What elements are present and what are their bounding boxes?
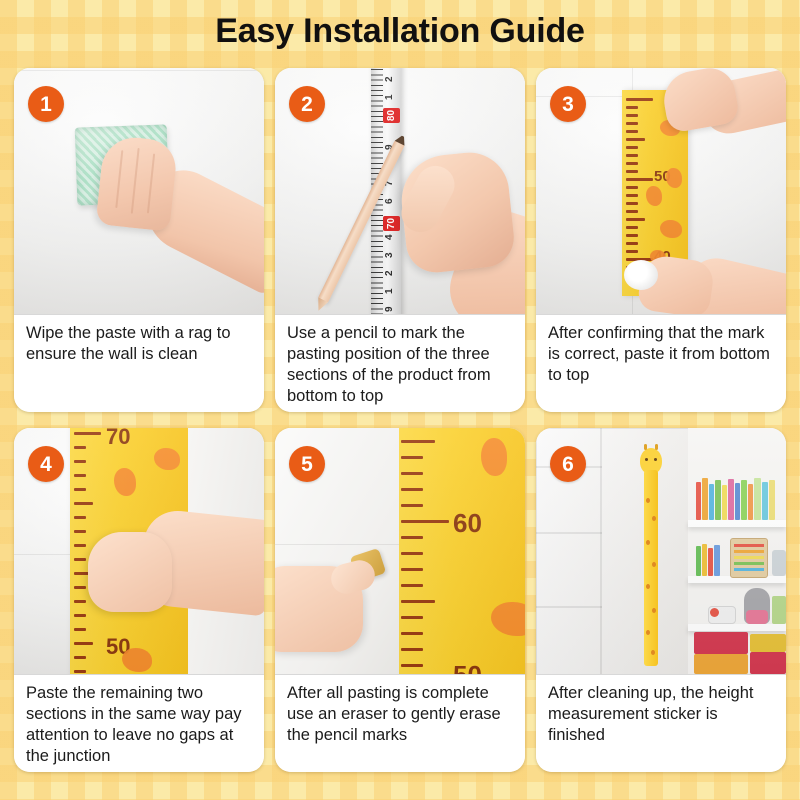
- step-photo-6: 6: [536, 428, 786, 674]
- step-badge-5: 5: [289, 446, 325, 482]
- tape-highlight-lower: 70: [383, 216, 400, 231]
- step-badge-6: 6: [550, 446, 586, 482]
- tape-numbers: 2 1 9 8 7 6 4 3 2 1 9: [383, 68, 401, 314]
- wall-seam: [275, 544, 399, 545]
- step-photo-1: 1: [14, 68, 264, 314]
- step-badge-4: 4: [28, 446, 64, 482]
- step-caption-6: After cleaning up, the height measuremen…: [536, 674, 786, 772]
- wall-seam: [14, 70, 264, 71]
- toy-car: [708, 606, 736, 624]
- bookshelf: [688, 428, 786, 674]
- page-title: Easy Installation Guide: [0, 12, 800, 51]
- step-photo-3: 50 40 30 3: [536, 68, 786, 314]
- storage-bin: [750, 652, 786, 674]
- step-card-3[interactable]: 50 40 30 3 After confirming that the mar…: [536, 68, 786, 412]
- step-card-5[interactable]: 60 50 5 After all pasting is complete us…: [275, 428, 525, 772]
- step-card-6[interactable]: 6 After cleaning up, the height measurem…: [536, 428, 786, 772]
- step-card-2[interactable]: 2 1 9 8 7 6 4 3 2 1 9 80 70: [275, 68, 525, 412]
- box-toy: [772, 550, 786, 576]
- abacus-toy: [730, 538, 768, 578]
- step-caption-3: After confirming that the mark is correc…: [536, 314, 786, 412]
- steps-grid: 1 Wipe the paste with a rag to ensure th…: [14, 68, 786, 786]
- shelf: [688, 624, 786, 631]
- step-card-1[interactable]: 1 Wipe the paste with a rag to ensure th…: [14, 68, 264, 412]
- sticker-roll: [624, 260, 658, 290]
- storage-bin: [694, 654, 748, 674]
- hand-smoothing-sticker: [88, 532, 172, 612]
- ruler-label-50: 50: [453, 660, 482, 674]
- finished-giraffe-height-chart: [640, 444, 662, 666]
- ruler-label-70: 70: [106, 428, 130, 450]
- storage-bin: [694, 632, 748, 654]
- green-basket: [772, 596, 786, 624]
- step-caption-4: Paste the remaining two sections in the …: [14, 674, 264, 772]
- step-photo-2: 2 1 9 8 7 6 4 3 2 1 9 80 70: [275, 68, 525, 314]
- shelf: [688, 520, 786, 527]
- step-badge-3: 3: [550, 86, 586, 122]
- step-photo-4: 70 50 4: [14, 428, 264, 674]
- step-card-4[interactable]: 70 50 4 Paste the remaining two sections…: [14, 428, 264, 772]
- ruler-label-60: 60: [453, 508, 482, 539]
- wall-seam: [14, 554, 74, 555]
- tape-highlight-80: 80: [383, 108, 400, 123]
- step-caption-2: Use a pencil to mark the pasting positio…: [275, 314, 525, 412]
- step-caption-5: After all pasting is complete use an era…: [275, 674, 525, 772]
- step-badge-1: 1: [28, 86, 64, 122]
- step-caption-1: Wipe the paste with a rag to ensure the …: [14, 314, 264, 412]
- step-photo-5: 60 50 5: [275, 428, 525, 674]
- giraffe-ruler-sticker: 60 50: [397, 428, 525, 674]
- step-badge-2: 2: [289, 86, 325, 122]
- storage-bin: [750, 634, 786, 652]
- plush-elephant: [744, 588, 770, 624]
